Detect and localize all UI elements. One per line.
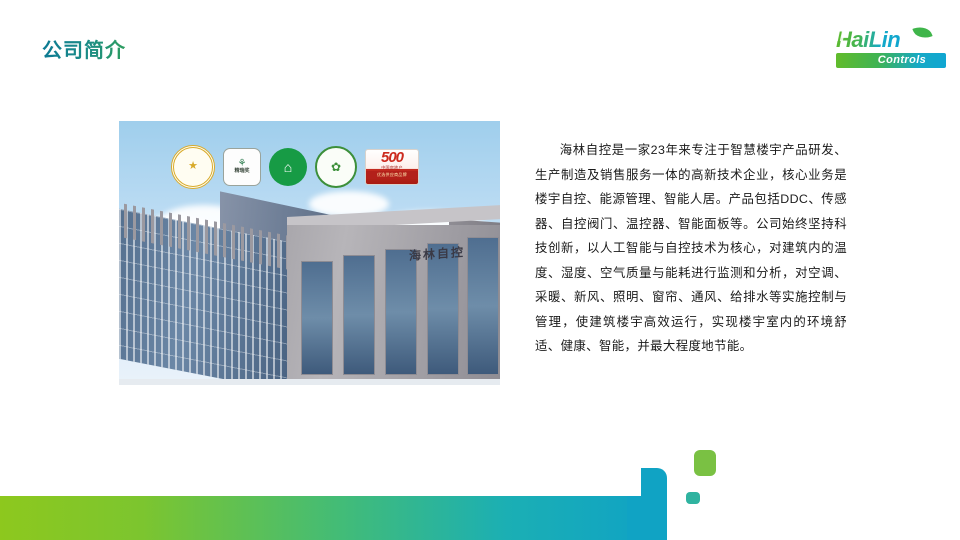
logo-ticks-icon [831,30,853,41]
leaf-icon [912,24,932,42]
environment-seal-badge: ✿ [315,146,357,188]
company-building-photo: ★ ⚘ 精瑞奖 ⌂ ✿ 500 [119,121,500,385]
building-window-column [427,243,459,375]
building-main-block [287,225,500,385]
top-500-badge: 500 中国房地产 优选供应商品牌 [365,149,419,185]
building-window-column [467,237,499,375]
building-window-column [385,249,417,375]
green-building-product-badge: ⌂ [269,148,307,186]
building-window-column [343,255,375,375]
star-icon: ★ [188,161,198,173]
top-500-cn: 中国房地产 [381,165,403,170]
footer-accent-square-teal [686,492,700,504]
quality-mark-caption: 精瑞奖 [234,169,249,174]
building-window-column [301,261,333,375]
logo-sub-wordmark: Controls [858,53,946,68]
gold-medal-award-badge: ★ [171,145,215,189]
ground-strip [119,379,500,385]
house-icon: ⌂ [284,160,292,174]
top-500-strip: 优选供应商品牌 [366,171,418,179]
quality-mark-badge: ⚘ 精瑞奖 [223,148,261,186]
certification-badge-row: ★ ⚘ 精瑞奖 ⌂ ✿ 500 [171,147,451,187]
footer-accent-square-green [694,450,716,476]
page-title: 公司简介 [42,39,126,63]
plant-icon: ✿ [331,161,341,173]
footer-gradient-band [0,496,650,540]
top-500-number: 500 [381,151,403,165]
hailin-logo: HaiLin Controls [828,28,950,72]
slide-canvas: 公司简介 HaiLin Controls ★ ⚘ 精瑞奖 [0,0,960,540]
footer-hook-notch [627,468,641,496]
company-intro-paragraph: 海林自控是一家23年来专注于智慧楼宇产品研发、生产制造及销售服务一体的高新技术企… [535,138,847,359]
